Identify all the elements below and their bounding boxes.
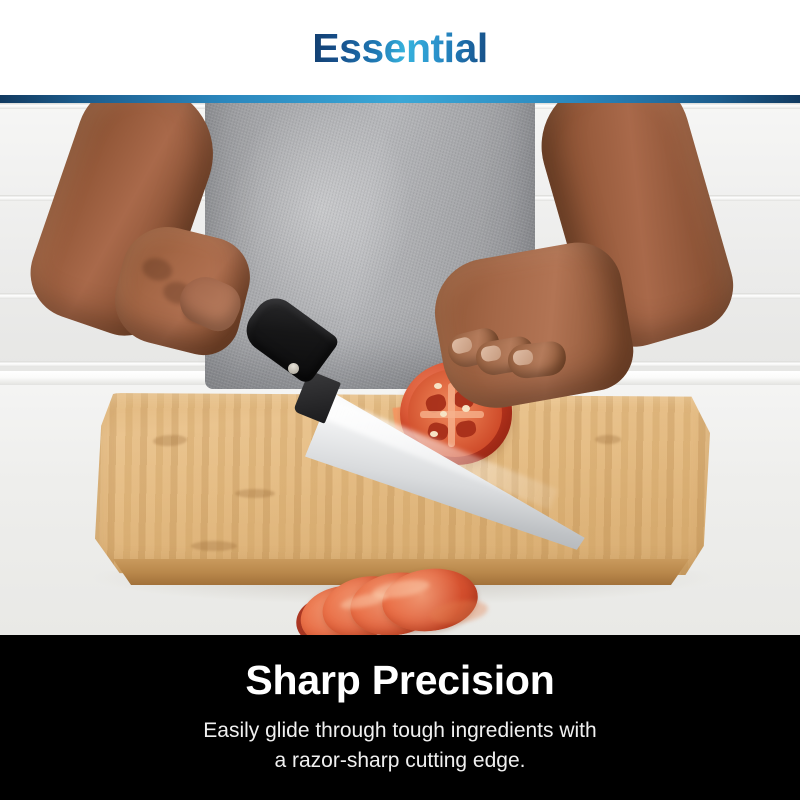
knuckle-shade [140, 255, 174, 284]
tomato-seed [462, 405, 470, 412]
wood-grain-mark [235, 489, 275, 498]
feature-title: Sharp Precision [245, 659, 554, 702]
tomato-septum [420, 411, 484, 418]
tomato-seed [440, 411, 447, 417]
header-divider [0, 95, 800, 103]
tomato-seed [434, 383, 442, 389]
wood-grain-mark [595, 435, 621, 444]
feature-subtitle-line-2: a razor-sharp cutting edge. [203, 746, 596, 776]
feature-subtitle-line-1: Easily glide through tough ingredients w… [203, 716, 596, 746]
feature-subtitle: Easily glide through tough ingredients w… [203, 716, 596, 776]
tomato-seed [430, 431, 438, 437]
product-feature-card: Essential [0, 0, 800, 800]
wood-grain-mark [153, 434, 188, 447]
brand-header: Essential [0, 0, 800, 96]
hero-photo [0, 103, 800, 635]
brand-wordmark: Essential [312, 25, 488, 72]
feature-caption-panel: Sharp Precision Easily glide through tou… [0, 635, 800, 800]
wood-grain-mark [191, 541, 237, 551]
